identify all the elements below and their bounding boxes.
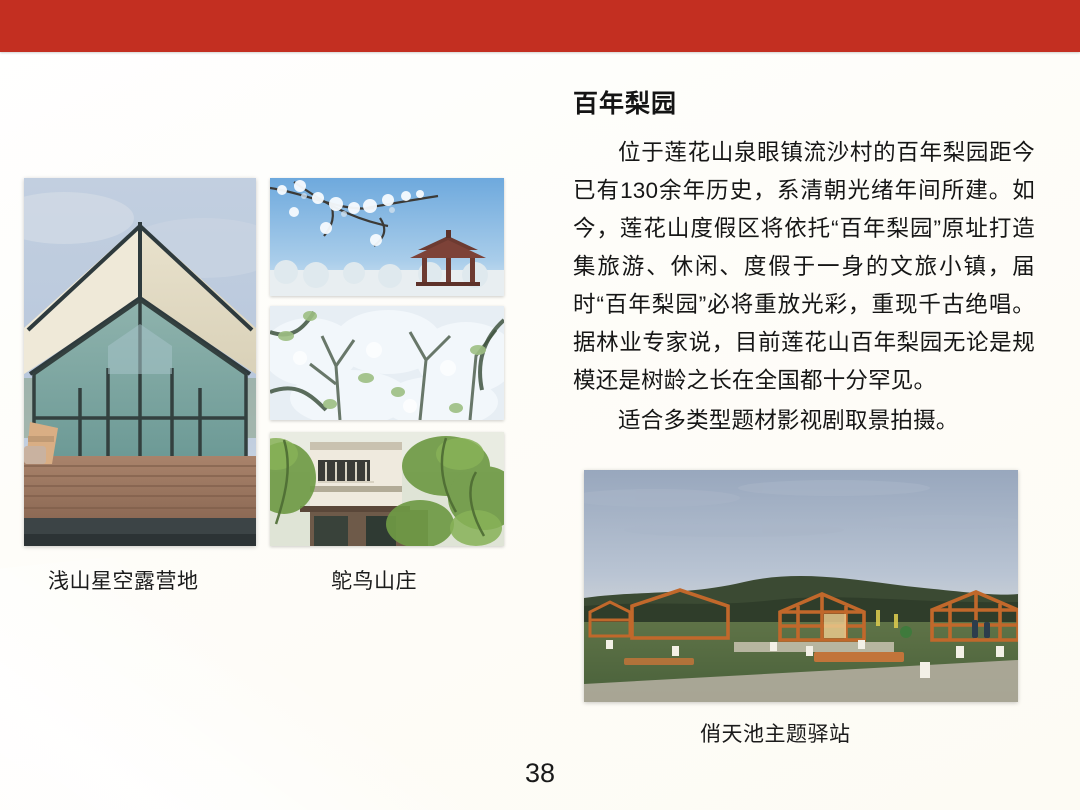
thumbnail-column bbox=[270, 178, 504, 546]
villa-among-trees-photo bbox=[270, 432, 504, 546]
caption-qiaotianchi-station: 俏天池主题驿站 bbox=[700, 718, 851, 748]
pear-blossom-pavilion-photo bbox=[270, 178, 504, 296]
villa-among-trees-illustration bbox=[270, 432, 504, 546]
glass-tent-camp-photo bbox=[24, 178, 256, 546]
timber-pavilions-illustration bbox=[584, 470, 1018, 702]
top-red-banner bbox=[0, 0, 1080, 52]
page-title: 百年梨园 bbox=[573, 84, 1035, 120]
pear-blossom-trees-photo bbox=[270, 306, 504, 420]
caption-ostrich-villa: 鸵鸟山庄 bbox=[331, 565, 417, 595]
caption-camping-site: 浅山星空露营地 bbox=[48, 565, 199, 595]
article-paragraph-1: 位于莲花山泉眼镇流沙村的百年梨园距今已有130余年历史，系清朝光绪年间所建。如今… bbox=[573, 134, 1035, 400]
pear-blossom-pavilion-illustration bbox=[270, 178, 504, 296]
page-number: 38 bbox=[0, 758, 1080, 789]
pear-blossom-trees-illustration bbox=[270, 306, 504, 420]
slide-canvas: 浅山星空露营地 鸵鸟山庄 百年梨园 位于莲花山泉眼镇流沙村的百年梨园距今已有13… bbox=[0, 0, 1080, 810]
article-paragraph-2: 适合多类型题材影视剧取景拍摄。 bbox=[573, 402, 1035, 440]
article-text-column: 百年梨园 位于莲花山泉眼镇流沙村的百年梨园距今已有130余年历史，系清朝光绪年间… bbox=[573, 84, 1035, 440]
timber-frame-pavilions-photo bbox=[584, 470, 1018, 702]
glass-tent-illustration bbox=[24, 178, 256, 546]
